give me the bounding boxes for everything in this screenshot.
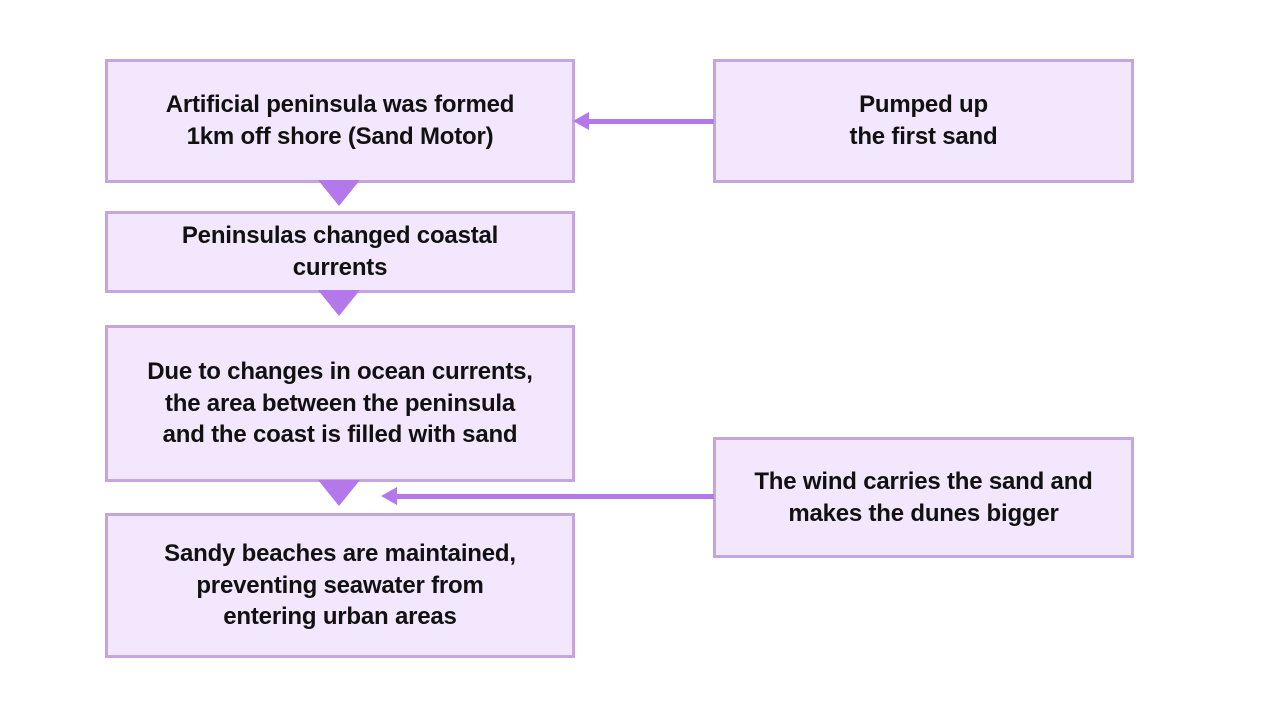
- arrow-down-icon-peninsula-to-currents: [318, 180, 360, 206]
- node-currents-changed[interactable]: Peninsulas changed coastal currents: [105, 211, 575, 293]
- arrow-left-icon-wind-to-beaches: [381, 494, 714, 499]
- node-peninsula-formed-label: Artificial peninsula was formed 1km off …: [156, 89, 525, 152]
- node-wind-dunes-label: The wind carries the sand and makes the …: [744, 466, 1102, 529]
- node-pumped-sand[interactable]: Pumped up the first sand: [713, 59, 1134, 183]
- arrow-shaft: [587, 119, 714, 124]
- node-beaches-kept-label: Sandy beaches are maintained, preventing…: [154, 538, 526, 633]
- arrow-down-icon-currents-to-area: [318, 290, 360, 316]
- node-wind-dunes[interactable]: The wind carries the sand and makes the …: [713, 437, 1134, 558]
- flowchart-canvas: Artificial peninsula was formed 1km off …: [0, 0, 1280, 720]
- arrow-shaft: [395, 494, 714, 499]
- node-peninsula-formed[interactable]: Artificial peninsula was formed 1km off …: [105, 59, 575, 183]
- arrow-down-icon-area-to-beaches: [318, 480, 360, 506]
- node-area-filled[interactable]: Due to changes in ocean currents, the ar…: [105, 325, 575, 482]
- node-pumped-sand-label: Pumped up the first sand: [840, 89, 1008, 152]
- arrow-left-icon-pumped-to-peninsula: [573, 119, 714, 124]
- node-area-filled-label: Due to changes in ocean currents, the ar…: [137, 356, 543, 451]
- node-currents-changed-label: Peninsulas changed coastal currents: [172, 220, 508, 283]
- node-beaches-kept[interactable]: Sandy beaches are maintained, preventing…: [105, 513, 575, 658]
